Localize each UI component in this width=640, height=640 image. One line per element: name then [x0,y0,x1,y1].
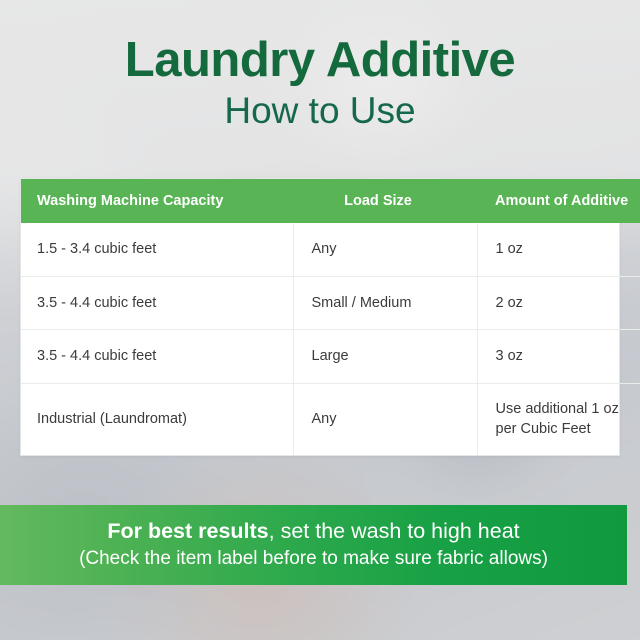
banner-regular-text: , set the wash to high heat [269,519,520,543]
instructions-table-container: Washing Machine Capacity Load Size Amoun… [20,178,620,456]
table-row: Industrial (Laundromat) Any Use addition… [21,383,640,455]
table-body: 1.5 - 3.4 cubic feet Any 1 oz 3.5 - 4.4 … [21,223,640,455]
banner-primary-line: For best results, set the wash to high h… [107,519,519,544]
cell-load-size: Any [293,383,477,455]
table-row: 3.5 - 4.4 cubic feet Small / Medium 2 oz [21,276,640,330]
banner-bold-text: For best results [107,519,268,543]
column-header-amount: Amount of Additive [477,179,640,223]
banner-secondary-line: (Check the item label before to make sur… [79,548,548,571]
cell-amount: 2 oz [477,276,640,330]
cell-amount: 3 oz [477,330,640,384]
cell-capacity: 1.5 - 3.4 cubic feet [21,223,293,276]
cell-load-size: Large [293,330,477,384]
table-row: 3.5 - 4.4 cubic feet Large 3 oz [21,330,640,384]
table-row: 1.5 - 3.4 cubic feet Any 1 oz [21,223,640,276]
page-title: Laundry Additive [0,36,640,86]
table-head: Washing Machine Capacity Load Size Amoun… [21,179,640,223]
title-block: Laundry Additive How to Use [0,36,640,133]
cell-capacity: 3.5 - 4.4 cubic feet [21,276,293,330]
poster-content: Laundry Additive How to Use Washing Mach… [0,0,640,640]
column-header-load-size: Load Size [293,179,477,223]
cell-capacity: Industrial (Laundromat) [21,383,293,455]
instructions-table: Washing Machine Capacity Load Size Amoun… [21,179,640,455]
cell-amount: Use additional 1 oz per Cubic Feet [477,383,640,455]
page-subtitle: How to Use [0,90,640,133]
cell-amount: 1 oz [477,223,640,276]
poster-root: Laundry Additive How to Use Washing Mach… [0,0,640,640]
column-header-capacity: Washing Machine Capacity [21,179,293,223]
best-results-banner: For best results, set the wash to high h… [0,505,627,585]
cell-load-size: Any [293,223,477,276]
cell-load-size: Small / Medium [293,276,477,330]
table-header-row: Washing Machine Capacity Load Size Amoun… [21,179,640,223]
cell-capacity: 3.5 - 4.4 cubic feet [21,330,293,384]
